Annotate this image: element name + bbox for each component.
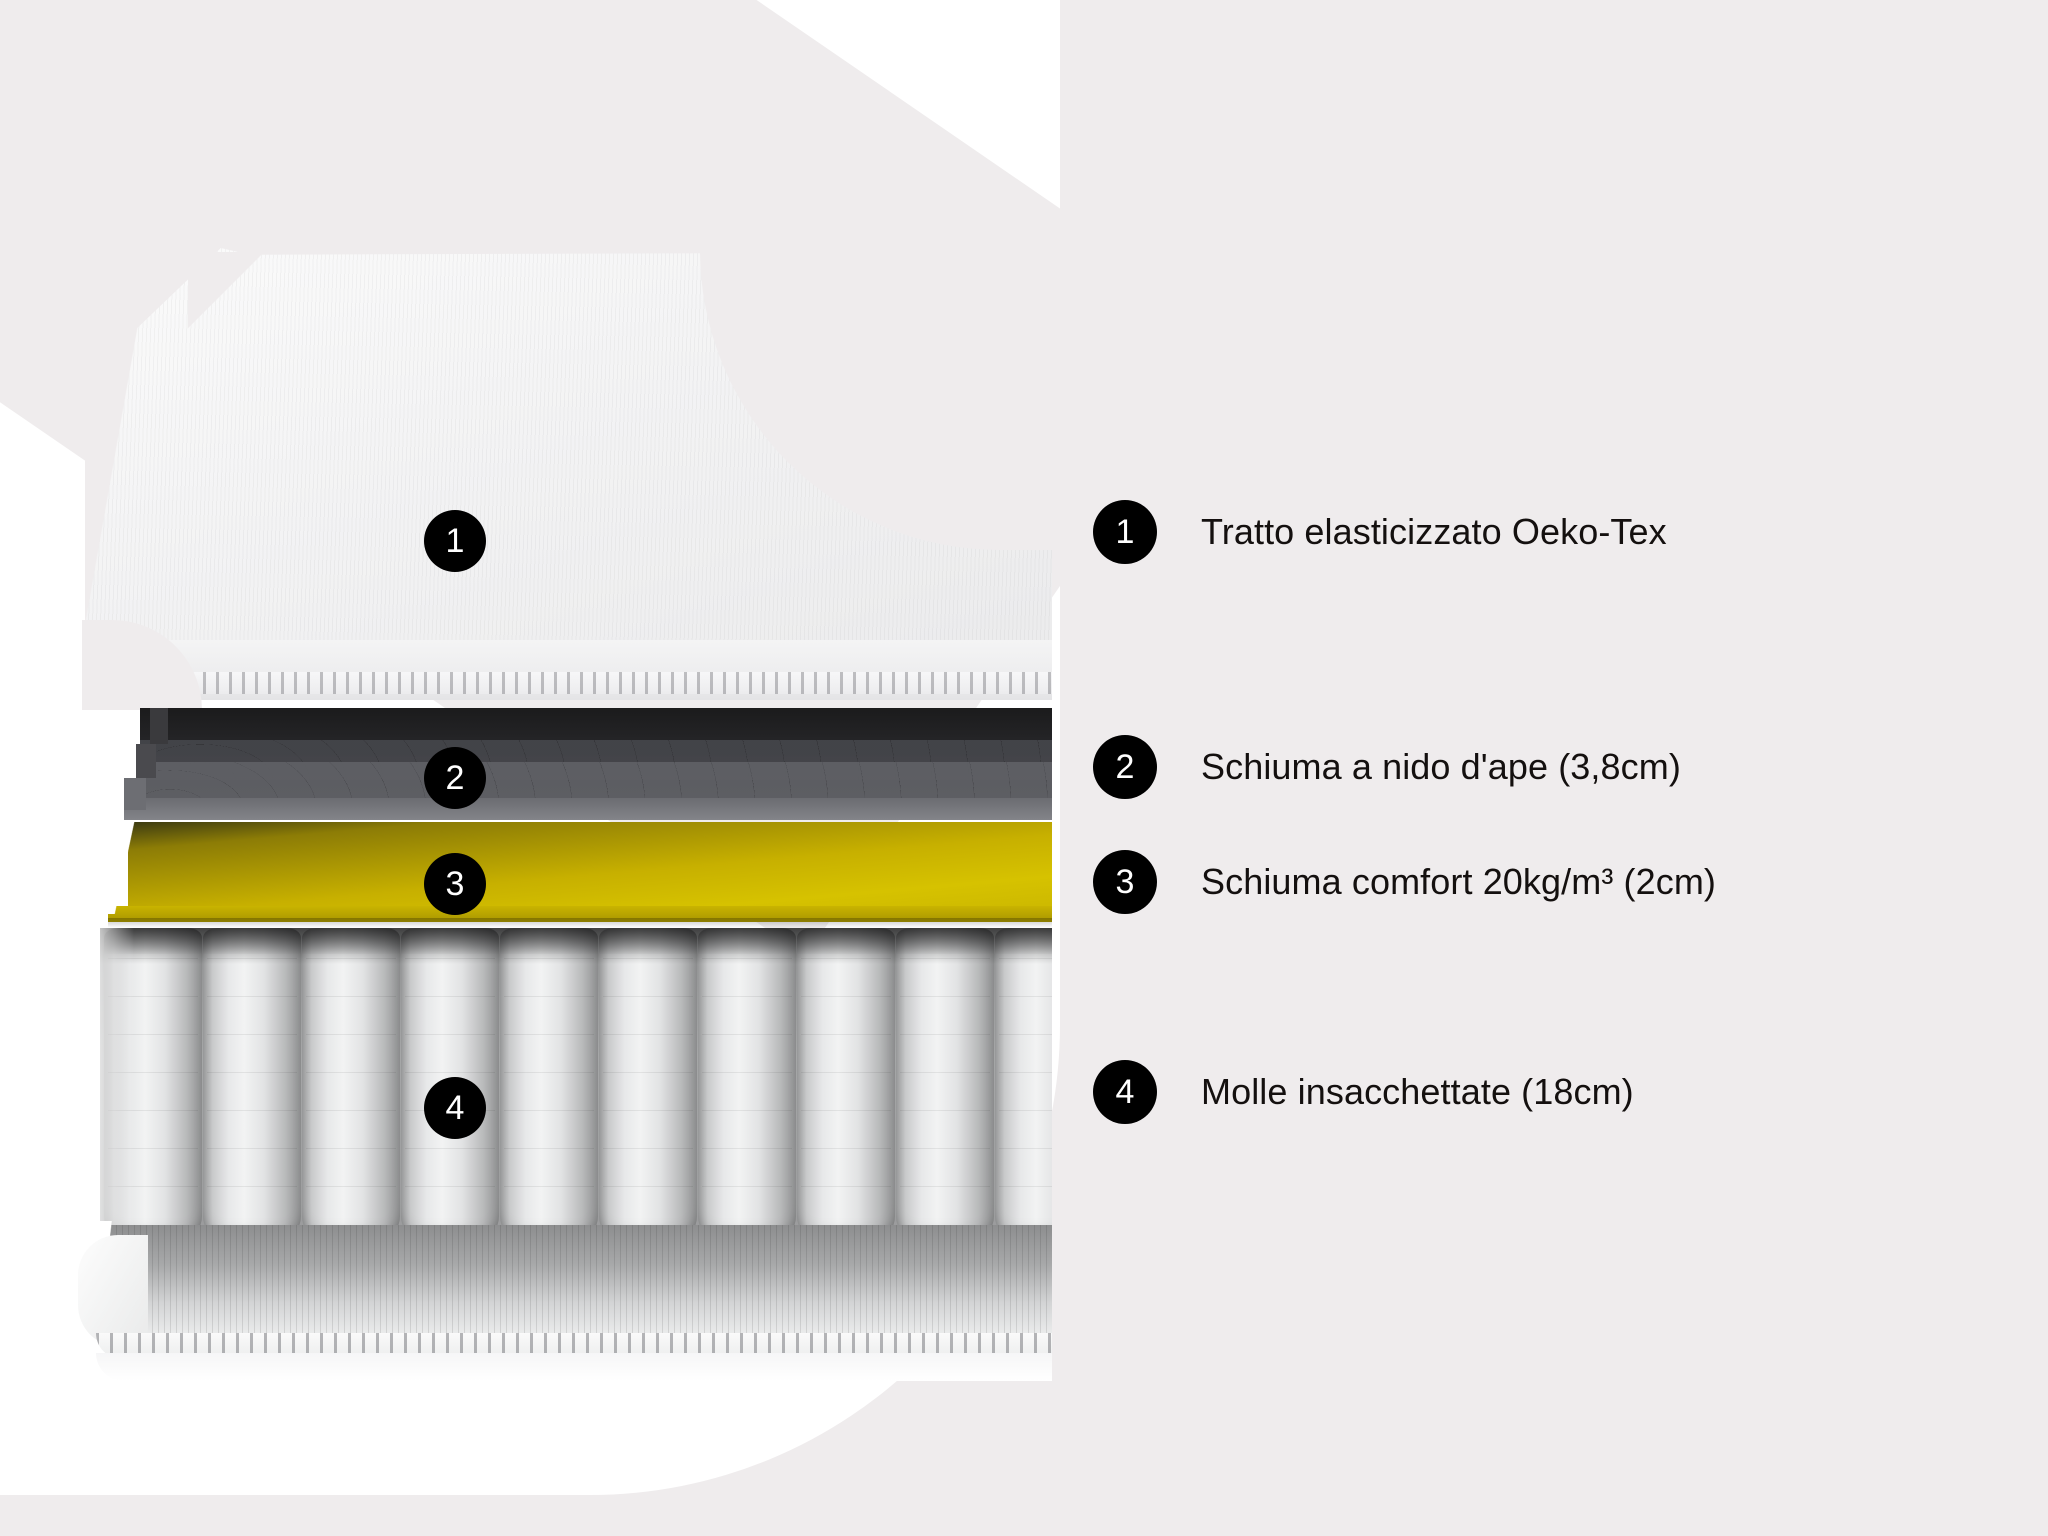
comfort-foam-shadow	[108, 918, 1052, 928]
legend-item-2[interactable]: 2 Schiuma a nido d'ape (3,8cm)	[1093, 735, 1681, 799]
legend-item-4[interactable]: 4 Molle insacchettate (18cm)	[1093, 1060, 1634, 1124]
mattress-layer-comfort-foam	[0, 818, 1052, 946]
diagram-marker-3[interactable]: 3	[424, 853, 486, 915]
pocket-spring-coil	[203, 928, 301, 1238]
base-border-left-cap	[78, 1235, 148, 1347]
legend-label-2: Schiuma a nido d'ape (3,8cm)	[1201, 746, 1681, 788]
legend-label-4: Molle insacchettate (18cm)	[1201, 1071, 1634, 1113]
base-border-surface	[92, 1225, 1052, 1343]
diagram-marker-1[interactable]: 1	[424, 510, 486, 572]
pocket-spring-coil	[302, 928, 400, 1238]
layer-legend: 1 Tratto elasticizzato Oeko-Tex 2 Schium…	[1093, 0, 1993, 1536]
legend-badge-1: 1	[1093, 500, 1157, 564]
mattress-layer-honeycomb-foam	[0, 700, 1052, 830]
comfort-foam-left-cut	[106, 822, 226, 914]
pocket-spring-coil	[995, 928, 1052, 1238]
pocket-springs-left-highlight	[92, 928, 134, 1248]
mattress-layer-pocket-springs	[0, 928, 1052, 1248]
comfort-foam-surface	[128, 822, 1052, 914]
legend-badge-3: 3	[1093, 850, 1157, 914]
diagram-marker-4[interactable]: 4	[424, 1077, 486, 1139]
diagram-marker-2[interactable]: 2	[424, 747, 486, 809]
legend-label-3: Schiuma comfort 20kg/m³ (2cm)	[1201, 861, 1716, 903]
pocket-spring-coil	[896, 928, 994, 1238]
pocket-spring-coil	[797, 928, 895, 1238]
honeycomb-foam-step-3	[124, 778, 146, 810]
top-cover-stitching	[112, 672, 1052, 694]
legend-item-3[interactable]: 3 Schiuma comfort 20kg/m³ (2cm)	[1093, 850, 1716, 914]
top-cover-corner-cut	[188, 252, 318, 332]
top-cover-left-bevel	[85, 248, 205, 668]
legend-badge-2: 2	[1093, 735, 1157, 799]
mattress-layer-top-cover	[0, 0, 1052, 720]
pocket-spring-coil	[698, 928, 796, 1238]
honeycomb-foam-base	[124, 798, 1052, 820]
legend-label-1: Tratto elasticizzato Oeko-Tex	[1201, 511, 1667, 553]
pocket-spring-coil	[500, 928, 598, 1238]
mattress-base-border	[0, 1225, 1052, 1405]
honeycomb-foam-step-1	[150, 708, 168, 744]
honeycomb-foam-step-2	[136, 744, 156, 778]
legend-badge-4: 4	[1093, 1060, 1157, 1124]
mattress-cutaway-illustration: 1 2 3 4	[0, 0, 1052, 1536]
legend-item-1[interactable]: 1 Tratto elasticizzato Oeko-Tex	[1093, 500, 1667, 564]
pocket-spring-coil	[599, 928, 697, 1238]
base-border-bottom	[96, 1353, 1052, 1381]
pocket-springs-top-shadow	[100, 928, 1052, 964]
